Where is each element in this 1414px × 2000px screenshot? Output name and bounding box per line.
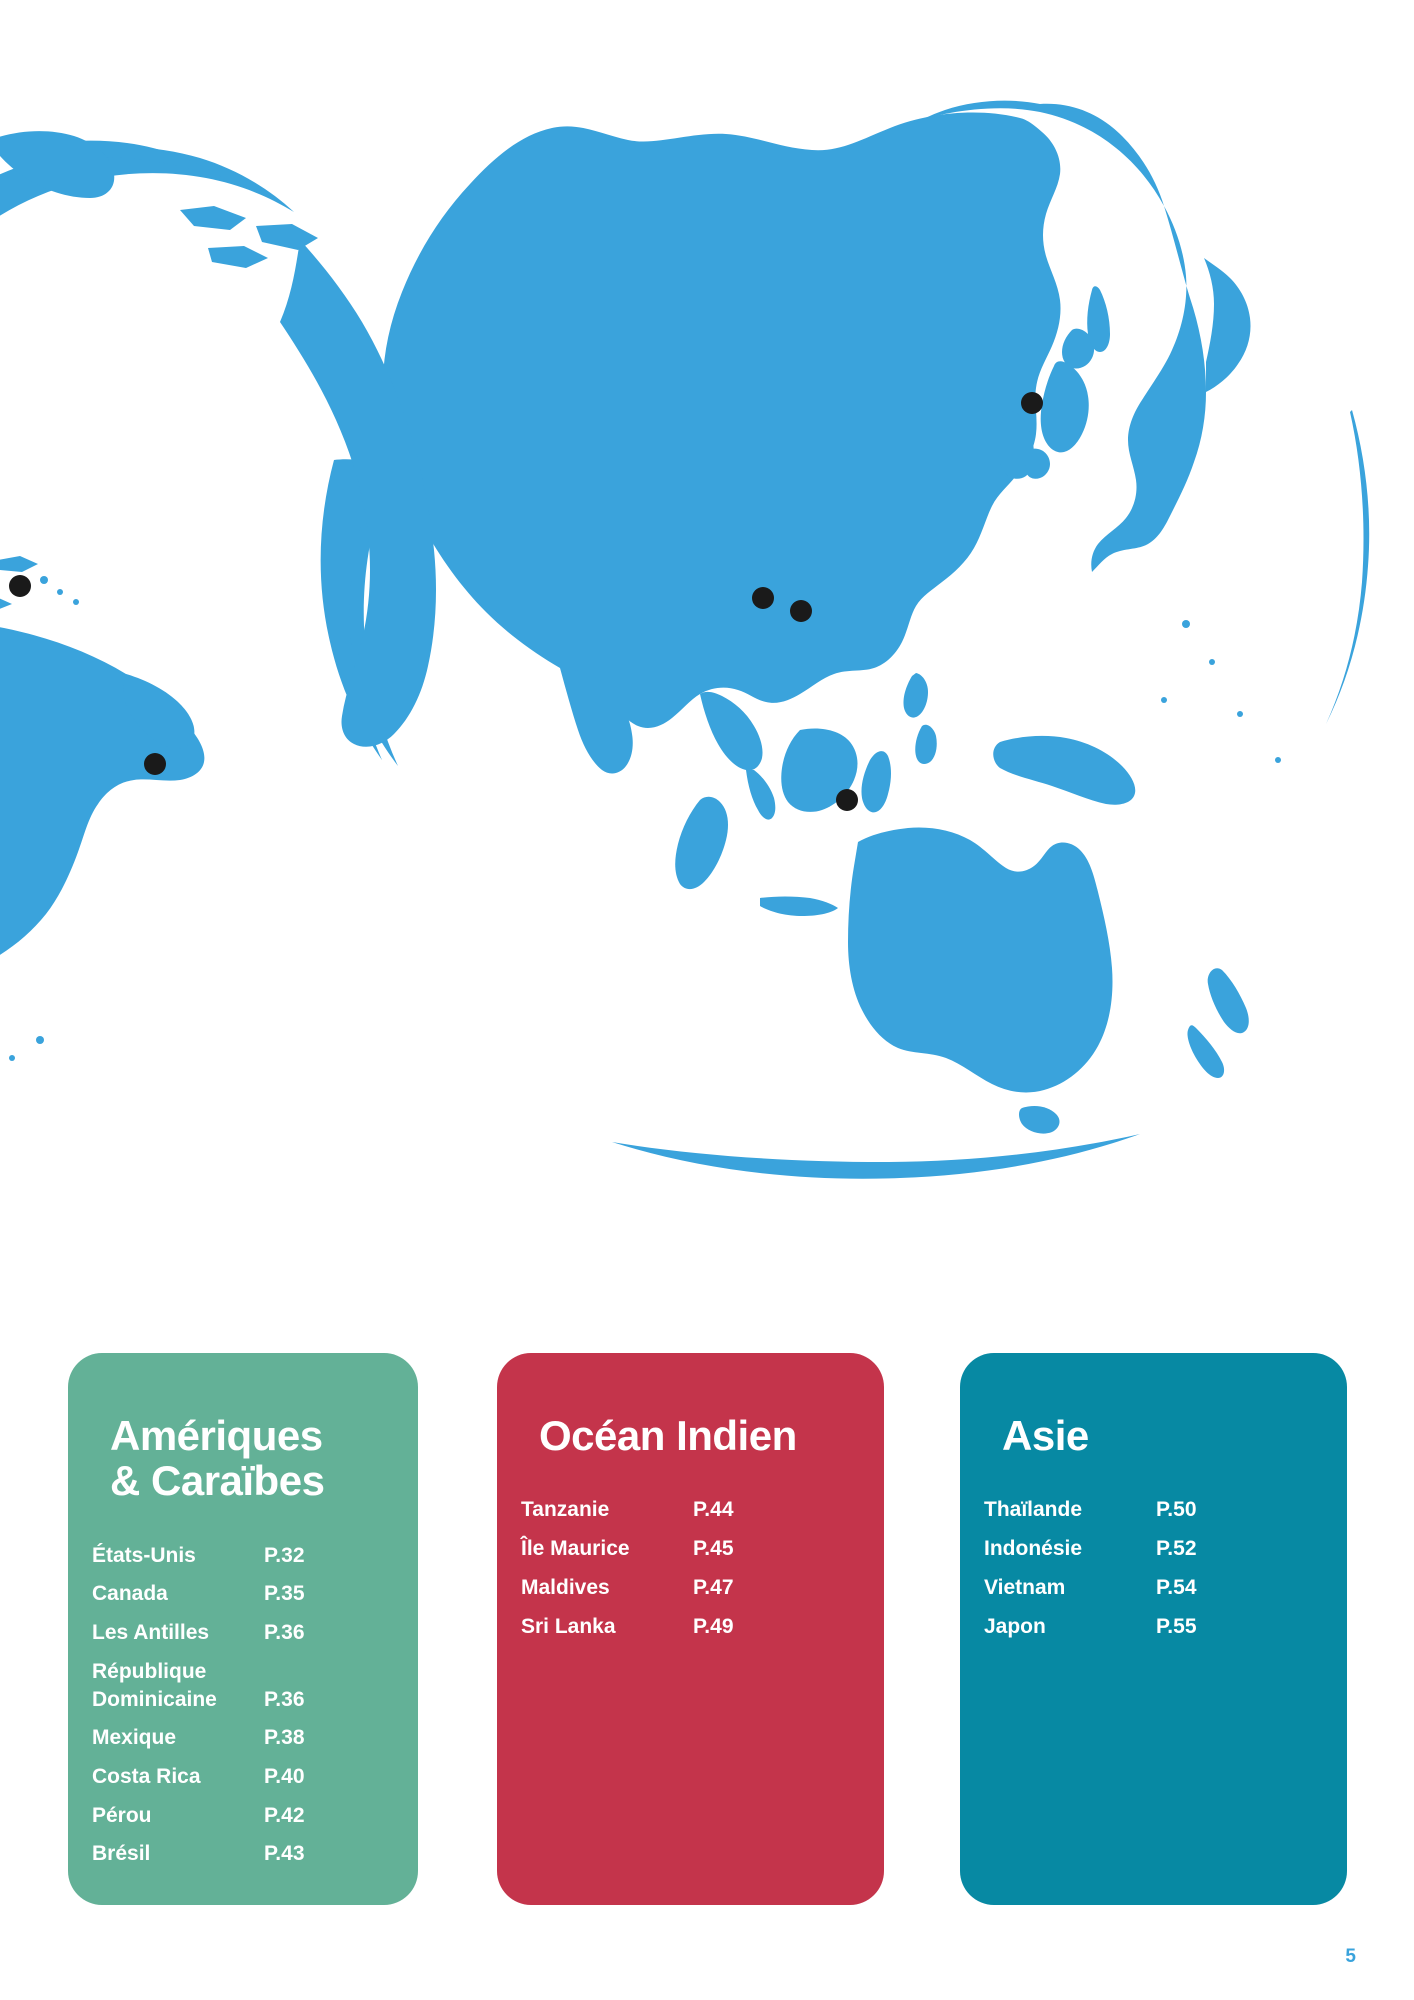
list-item[interactable]: Thaïlande P.50	[984, 1496, 1323, 1524]
entry-name: République Dominicaine	[92, 1658, 264, 1713]
card-title-asie: Asie	[984, 1413, 1323, 1458]
entry-name: Mexique	[92, 1724, 264, 1752]
world-map	[0, 0, 1414, 1180]
card-title-ocean-indien: Océan Indien	[521, 1413, 860, 1458]
destination-cards: Amériques & Caraïbes États-Unis P.32 Can…	[0, 1353, 1414, 1905]
marker-japan	[1021, 392, 1043, 414]
entry-page: P.44	[693, 1496, 734, 1524]
entry-name: Tanzanie	[521, 1496, 693, 1524]
entry-name: États-Unis	[92, 1542, 264, 1570]
entry-name: Maldives	[521, 1574, 693, 1602]
entry-name: Sri Lanka	[521, 1613, 693, 1641]
entry-page: P.45	[693, 1535, 734, 1563]
entry-name: Canada	[92, 1580, 264, 1608]
list-item[interactable]: Brésil P.43	[92, 1840, 394, 1868]
list-item[interactable]: Vietnam P.54	[984, 1574, 1323, 1602]
card-ameriques-caraibes[interactable]: Amériques & Caraïbes États-Unis P.32 Can…	[68, 1353, 418, 1905]
entry-page: P.36	[264, 1686, 305, 1714]
marker-indonesia	[836, 789, 858, 811]
entry-name: Brésil	[92, 1840, 264, 1868]
list-item[interactable]: Mexique P.38	[92, 1724, 394, 1752]
marker-thailand	[752, 587, 774, 609]
entry-page: P.40	[264, 1763, 305, 1791]
brochure-page: Amériques & Caraïbes États-Unis P.32 Can…	[0, 0, 1414, 2000]
entry-page: P.36	[264, 1619, 305, 1647]
card-title-ameriques: Amériques & Caraïbes	[92, 1413, 394, 1504]
entry-page: P.35	[264, 1580, 305, 1608]
list-item[interactable]: Tanzanie P.44	[521, 1496, 860, 1524]
globe-right-asia-oceania	[321, 101, 1370, 1179]
entry-name: Costa Rica	[92, 1763, 264, 1791]
card-inner: Amériques & Caraïbes États-Unis P.32 Can…	[68, 1413, 418, 1868]
entry-page: P.47	[693, 1574, 734, 1602]
entry-list-asie: Thaïlande P.50 Indonésie P.52 Vietnam P.…	[984, 1496, 1323, 1640]
entry-page: P.49	[693, 1613, 734, 1641]
list-item[interactable]: Île Maurice P.45	[521, 1535, 860, 1563]
world-map-svg	[0, 0, 1414, 1180]
entry-page: P.54	[1156, 1574, 1197, 1602]
entry-name: Les Antilles	[92, 1619, 264, 1647]
card-inner: Asie Thaïlande P.50 Indonésie P.52 Vietn…	[960, 1413, 1347, 1640]
entry-name: Thaïlande	[984, 1496, 1156, 1524]
list-item[interactable]: États-Unis P.32	[92, 1542, 394, 1570]
list-item[interactable]: Pérou P.42	[92, 1802, 394, 1830]
list-item[interactable]: Maldives P.47	[521, 1574, 860, 1602]
marker-caribbean	[9, 575, 31, 597]
entry-page: P.42	[264, 1802, 305, 1830]
marker-brazil	[144, 753, 166, 775]
entry-page: P.32	[264, 1542, 305, 1570]
entry-page: P.43	[264, 1840, 305, 1868]
entry-page: P.52	[1156, 1535, 1197, 1563]
entry-name: Île Maurice	[521, 1535, 693, 1563]
list-item[interactable]: Les Antilles P.36	[92, 1619, 394, 1647]
list-item[interactable]: Costa Rica P.40	[92, 1763, 394, 1791]
entry-page: P.50	[1156, 1496, 1197, 1524]
entry-name: Pérou	[92, 1802, 264, 1830]
entry-page: P.38	[264, 1724, 305, 1752]
entry-list-ocean-indien: Tanzanie P.44 Île Maurice P.45 Maldives …	[521, 1496, 860, 1640]
entry-page: P.55	[1156, 1613, 1197, 1641]
list-item[interactable]: Indonésie P.52	[984, 1535, 1323, 1563]
card-asie[interactable]: Asie Thaïlande P.50 Indonésie P.52 Vietn…	[960, 1353, 1347, 1905]
list-item[interactable]: Japon P.55	[984, 1613, 1323, 1641]
entry-name: Indonésie	[984, 1535, 1156, 1563]
entry-name: Vietnam	[984, 1574, 1156, 1602]
card-inner: Océan Indien Tanzanie P.44 Île Maurice P…	[497, 1413, 884, 1640]
list-item[interactable]: République Dominicaine P.36	[92, 1658, 394, 1713]
page-number: 5	[1345, 1946, 1356, 1968]
list-item[interactable]: Canada P.35	[92, 1580, 394, 1608]
globe-left-americas	[0, 131, 436, 1061]
marker-vietnam	[790, 600, 812, 622]
entry-list-ameriques: États-Unis P.32 Canada P.35 Les Antilles…	[92, 1542, 394, 1868]
entry-name: Japon	[984, 1613, 1156, 1641]
card-ocean-indien[interactable]: Océan Indien Tanzanie P.44 Île Maurice P…	[497, 1353, 884, 1905]
list-item[interactable]: Sri Lanka P.49	[521, 1613, 860, 1641]
